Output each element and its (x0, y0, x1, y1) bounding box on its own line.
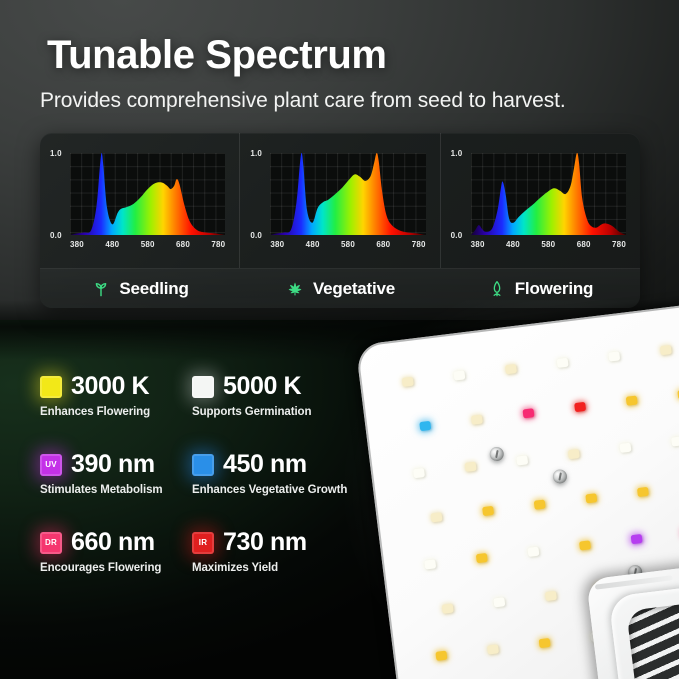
legend-item-seedling[interactable]: Seedling (40, 279, 240, 299)
spec-row: 3000 K Enhances Flowering 5000 K Support… (40, 372, 360, 418)
growth-stage-legend: Seedling Vegetative Flowering (40, 268, 640, 308)
swatch-dr: DR (40, 532, 62, 554)
spectrum-curve-flowering (471, 153, 626, 235)
y-tick-max: 1.0 (50, 149, 62, 158)
led-diode (527, 547, 539, 557)
plot-area-flowering (471, 153, 626, 235)
spec-description: Enhances Flowering (40, 406, 192, 418)
led-diode (424, 559, 436, 569)
led-diode (574, 402, 586, 412)
led-diode (476, 553, 488, 563)
driver-inner (608, 583, 679, 679)
led-diode (471, 415, 483, 425)
x-tick: 480 (105, 240, 119, 249)
spec-description: Stimulates Metabolism (40, 484, 192, 496)
led-diode (402, 377, 414, 387)
x-tick: 480 (306, 240, 320, 249)
led-diode (585, 493, 597, 503)
swatch-450nm (192, 454, 214, 476)
x-tick: 380 (70, 240, 84, 249)
led-diode (671, 436, 679, 446)
x-tick: 480 (506, 240, 520, 249)
swatch-3000k (40, 376, 62, 398)
led-diode (419, 421, 431, 431)
spec-description: Supports Germination (192, 406, 344, 418)
spec-description: Encourages Flowering (40, 562, 192, 574)
x-axis-seedling: 380 480 580 680 780 (70, 240, 225, 254)
y-tick-min: 0.0 (50, 231, 62, 240)
spec-390nm: UV 390 nm Stimulates Metabolism (40, 450, 192, 496)
plot-area-vegetative (270, 153, 425, 235)
led-diode (465, 462, 477, 472)
spec-description: Enhances Vegetative Growth (192, 484, 344, 496)
spec-value: 5000 K (223, 372, 301, 401)
y-tick-max: 1.0 (250, 149, 262, 158)
legend-item-vegetative[interactable]: Vegetative (240, 279, 440, 299)
page-subtitle: Provides comprehensive plant care from s… (40, 89, 566, 113)
spec-description: Maximizes Yield (192, 562, 344, 574)
spec-row: DR 660 nm Encourages Flowering IR 730 nm… (40, 528, 360, 574)
led-diode (453, 370, 465, 380)
legend-label-seedling: Seedling (119, 279, 188, 299)
x-tick: 680 (577, 240, 591, 249)
led-diode (442, 603, 454, 613)
spectrum-chart-seedling: 1.0 0.0 (40, 133, 239, 268)
led-diode (430, 512, 442, 522)
spectrum-chart-flowering: 1.0 0.0 (440, 133, 640, 268)
spec-value: 660 nm (71, 528, 155, 557)
led-diode (545, 591, 557, 601)
led-diode (637, 487, 649, 497)
vent-grille (626, 598, 679, 679)
plot-area-seedling (70, 153, 225, 235)
page-title: Tunable Spectrum (47, 33, 387, 78)
y-tick-min: 0.0 (451, 231, 463, 240)
swatch-uv: UV (40, 454, 62, 476)
spec-730nm: IR 730 nm Maximizes Yield (192, 528, 344, 574)
led-diode (413, 468, 425, 478)
x-tick: 780 (612, 240, 626, 249)
x-tick: 680 (176, 240, 190, 249)
led-diode (435, 651, 447, 661)
x-tick: 380 (270, 240, 284, 249)
led-diode (522, 408, 534, 418)
led-diode (619, 443, 631, 453)
led-diode (493, 597, 505, 607)
led-diode (539, 638, 551, 648)
spec-660nm: DR 660 nm Encourages Flowering (40, 528, 192, 574)
x-axis-vegetative: 380 480 580 680 780 (270, 240, 425, 254)
led-diode (631, 534, 643, 544)
spec-value: 390 nm (71, 450, 155, 479)
swatch-ir: IR (192, 532, 214, 554)
legend-label-vegetative: Vegetative (313, 279, 395, 299)
spec-value: 3000 K (71, 372, 149, 401)
led-diode (660, 345, 672, 355)
led-diode (534, 500, 546, 510)
led-diode (626, 396, 638, 406)
spectrum-charts-row: 1.0 0.0 (40, 133, 640, 268)
led-diode (505, 364, 517, 374)
legend-item-flowering[interactable]: Flowering (440, 279, 640, 299)
x-tick: 580 (541, 240, 555, 249)
x-tick: 780 (211, 240, 225, 249)
spectrum-chart-card: 1.0 0.0 (40, 133, 640, 308)
led-diode (487, 644, 499, 654)
x-tick: 780 (412, 240, 426, 249)
spec-value: 730 nm (223, 528, 307, 557)
spec-450nm: 450 nm Enhances Vegetative Growth (192, 450, 344, 496)
spectrum-curve-vegetative (270, 153, 425, 235)
led-diode (557, 358, 569, 368)
led-diode (568, 449, 580, 459)
spec-row: UV 390 nm Stimulates Metabolism 450 nm E… (40, 450, 360, 496)
x-tick: 380 (471, 240, 485, 249)
spectrum-curve-seedling (70, 153, 225, 235)
led-diode (516, 455, 528, 465)
led-diode (579, 540, 591, 550)
driver-housing (586, 565, 679, 679)
spec-value: 450 nm (223, 450, 307, 479)
leaf-icon (285, 279, 305, 299)
x-tick: 680 (376, 240, 390, 249)
infographic-canvas: Tunable Spectrum Provides comprehensive … (0, 0, 679, 679)
bud-icon (487, 279, 507, 299)
led-diode (482, 506, 494, 516)
y-tick-min: 0.0 (250, 231, 262, 240)
spec-list: 3000 K Enhances Flowering 5000 K Support… (40, 372, 360, 606)
sprout-icon (91, 279, 111, 299)
swatch-5000k (192, 376, 214, 398)
y-tick-max: 1.0 (451, 149, 463, 158)
spec-3000k: 3000 K Enhances Flowering (40, 372, 192, 418)
x-tick: 580 (141, 240, 155, 249)
x-tick: 580 (341, 240, 355, 249)
spec-5000k: 5000 K Supports Germination (192, 372, 344, 418)
legend-label-flowering: Flowering (515, 279, 593, 299)
spectrum-chart-vegetative: 1.0 0.0 (239, 133, 439, 268)
led-diode (608, 351, 620, 361)
driver-lip (595, 575, 673, 589)
x-axis-flowering: 380 480 580 680 780 (471, 240, 626, 254)
